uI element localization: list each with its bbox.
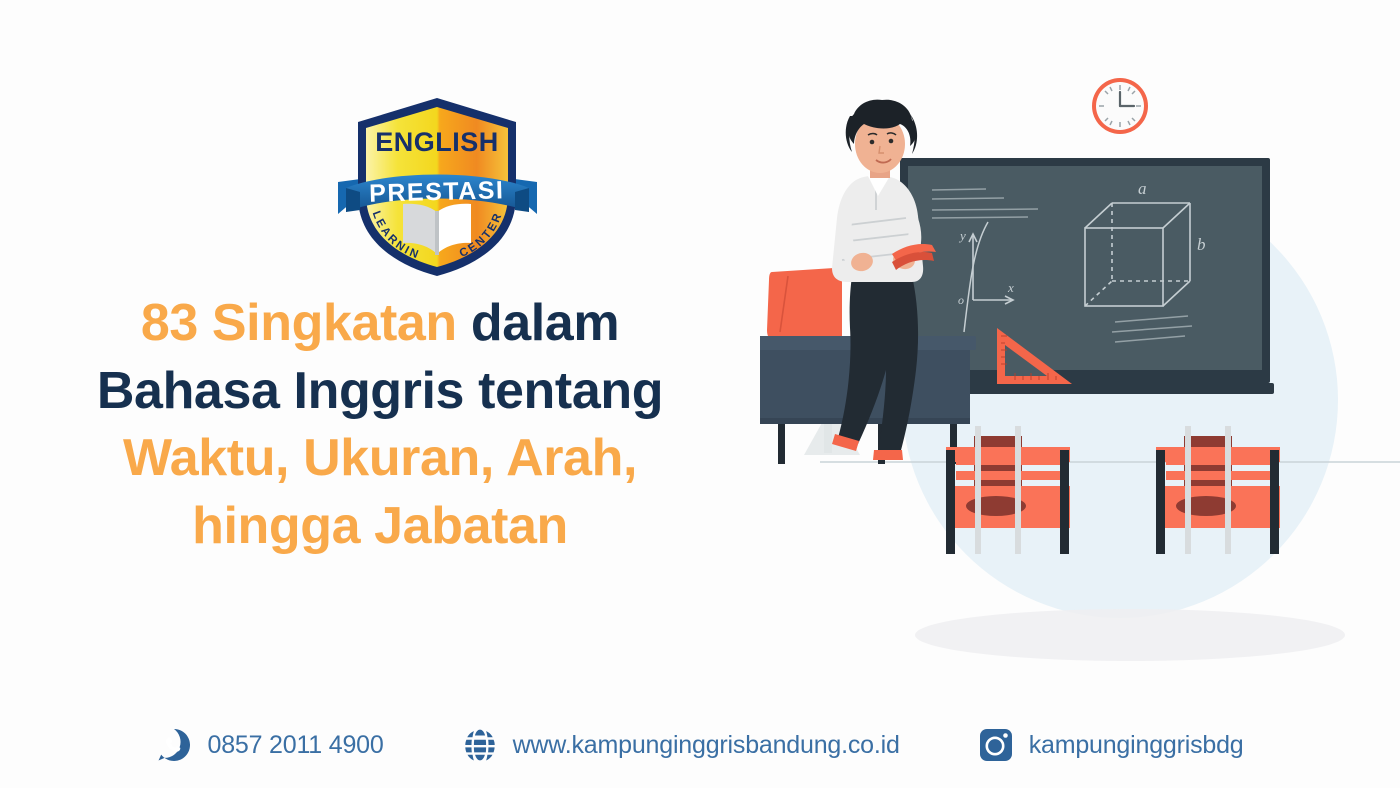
headline-line-1-navy: dalam <box>471 294 619 352</box>
left-content-column: ENGLISH LEARNING CENTER <box>0 0 760 700</box>
promo-banner: ENGLISH LEARNING CENTER <box>0 0 1400 788</box>
brand-logo: ENGLISH LEARNING CENTER <box>330 92 545 282</box>
instagram-icon[interactable] <box>978 727 1014 763</box>
contact-instagram[interactable]: kampunginggrisbdg <box>978 727 1244 763</box>
logo-top-text: ENGLISH <box>375 127 499 157</box>
headline-line-1: 83 Singkatan dalam <box>0 290 760 358</box>
cube-label-a: a <box>1138 179 1147 198</box>
globe-icon[interactable] <box>462 727 498 763</box>
whatsapp-number: 0857 2011 4900 <box>207 731 383 760</box>
contact-website[interactable]: www.kampunginggrisbandung.co.id <box>462 727 900 763</box>
classroom-svg: y x o a b <box>760 40 1400 700</box>
logo-svg: ENGLISH LEARNING CENTER <box>330 92 545 282</box>
graph-y-label: y <box>958 228 966 243</box>
headline-line-3: Waktu, Ukuran, Arah, <box>0 425 760 493</box>
headline-line-4: hingga Jabatan <box>0 493 760 561</box>
ground-shadow <box>915 609 1345 661</box>
contact-whatsapp[interactable]: 0857 2011 4900 <box>156 727 383 763</box>
whatsapp-icon[interactable] <box>156 727 192 763</box>
headline-line-1-orange: 83 Singkatan <box>141 294 457 352</box>
page-title: 83 Singkatan dalam Bahasa Inggris tentan… <box>0 290 760 560</box>
website-url: www.kampunginggrisbandung.co.id <box>513 731 900 760</box>
cube-label-b: b <box>1197 235 1206 254</box>
graph-x-label: x <box>1007 280 1014 295</box>
contact-footer: 0857 2011 4900 www. <box>0 714 1400 776</box>
headline-line-2: Bahasa Inggris tentang <box>0 358 760 426</box>
classroom-illustration: y x o a b <box>760 40 1400 700</box>
instagram-handle: kampunginggrisbdg <box>1029 731 1244 760</box>
graph-origin-label: o <box>958 293 964 307</box>
logo-ribbon-text: PRESTASI <box>369 176 505 208</box>
wall-clock <box>1092 78 1148 134</box>
